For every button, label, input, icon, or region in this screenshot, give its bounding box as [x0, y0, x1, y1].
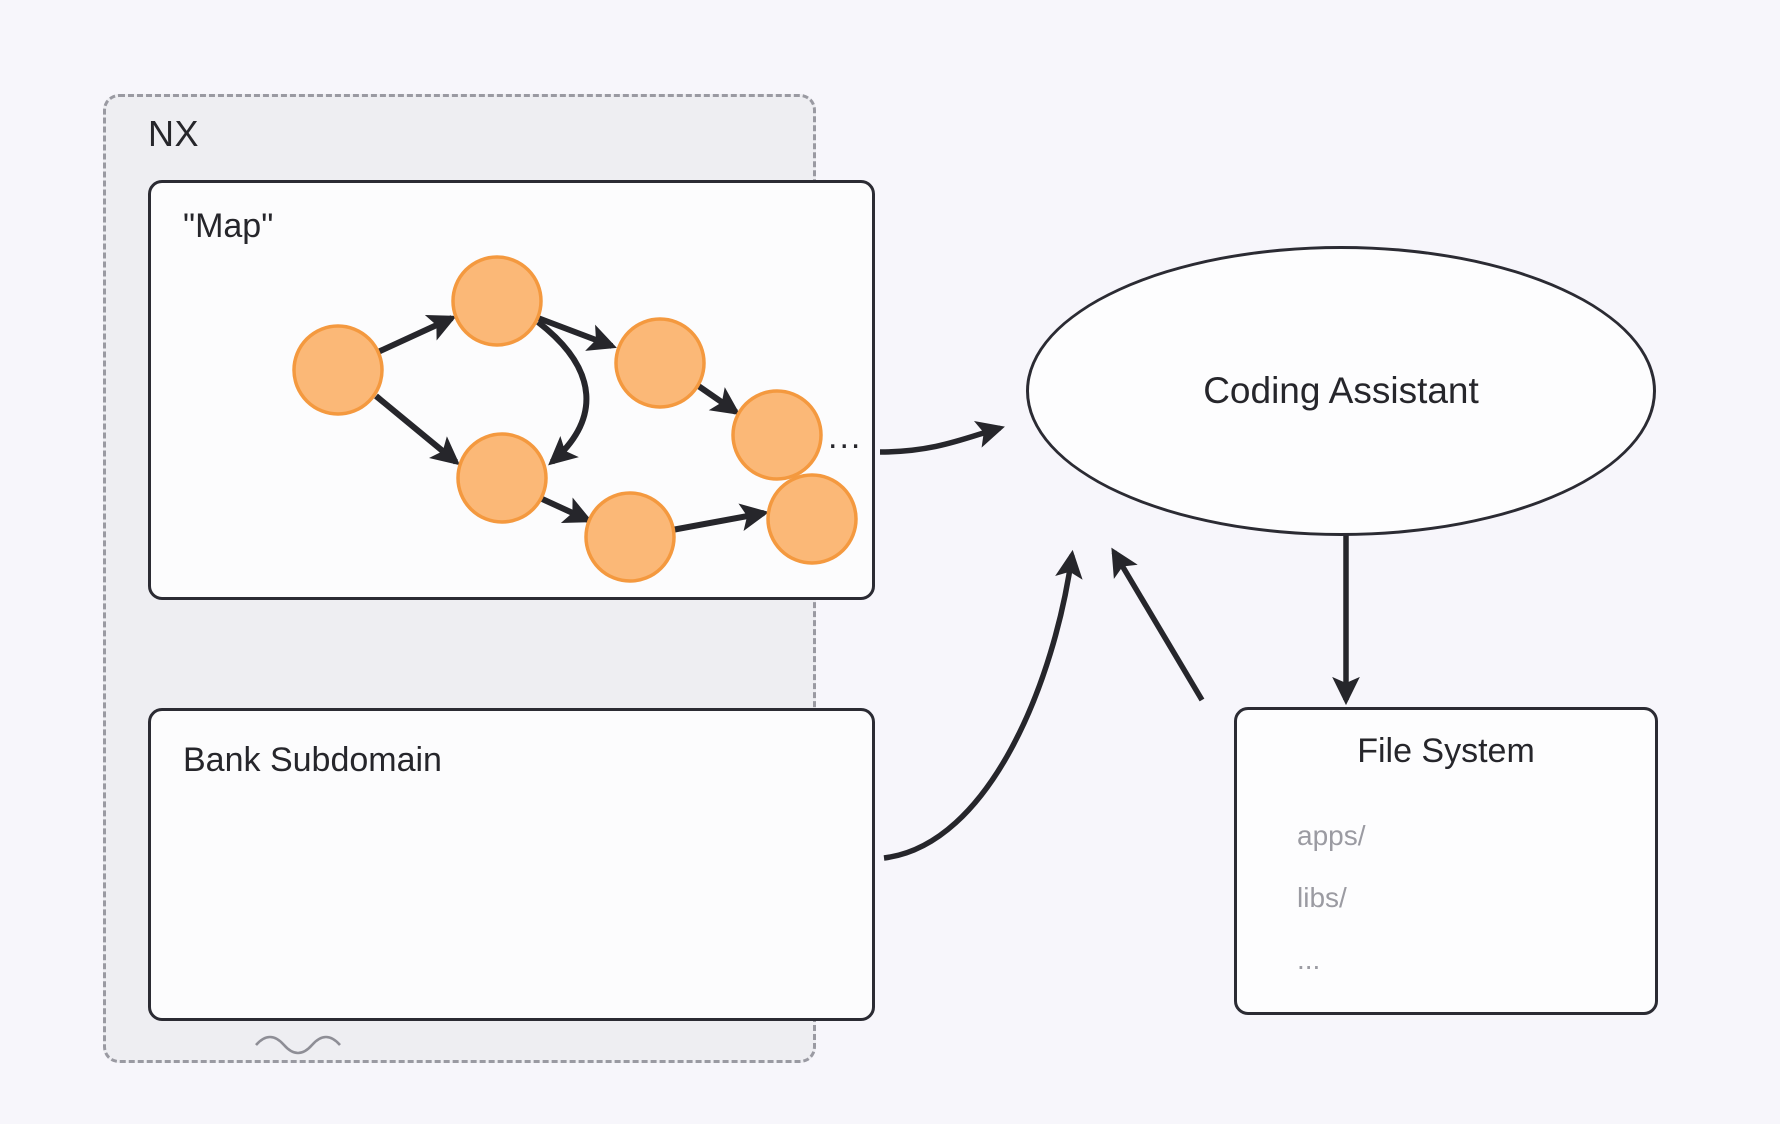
map-card: "Map" — [148, 180, 875, 600]
coding-assistant-label: Coding Assistant — [1203, 370, 1479, 412]
bank-subdomain-title: Bank Subdomain — [183, 741, 442, 780]
file-system-item: libs/ — [1297, 882, 1347, 914]
nx-container-label: NX — [148, 113, 199, 155]
file-system-item: ... — [1297, 944, 1320, 976]
file-system-card: File System apps/ libs/ ... — [1234, 707, 1658, 1015]
connector-map-to-assistant — [880, 428, 1000, 452]
bank-subdomain-card: Bank Subdomain — [148, 708, 875, 1021]
file-system-item: apps/ — [1297, 820, 1366, 852]
map-ellipsis: ... — [828, 420, 862, 454]
coding-assistant-node[interactable]: Coding Assistant — [1026, 246, 1656, 536]
map-card-title: "Map" — [183, 207, 273, 246]
file-system-title: File System — [1237, 732, 1655, 771]
diagram-canvas: NX "Map" — [0, 0, 1780, 1124]
connector-filesystem-to-assistant — [1114, 552, 1202, 700]
connector-bank-to-assistant — [884, 555, 1072, 858]
